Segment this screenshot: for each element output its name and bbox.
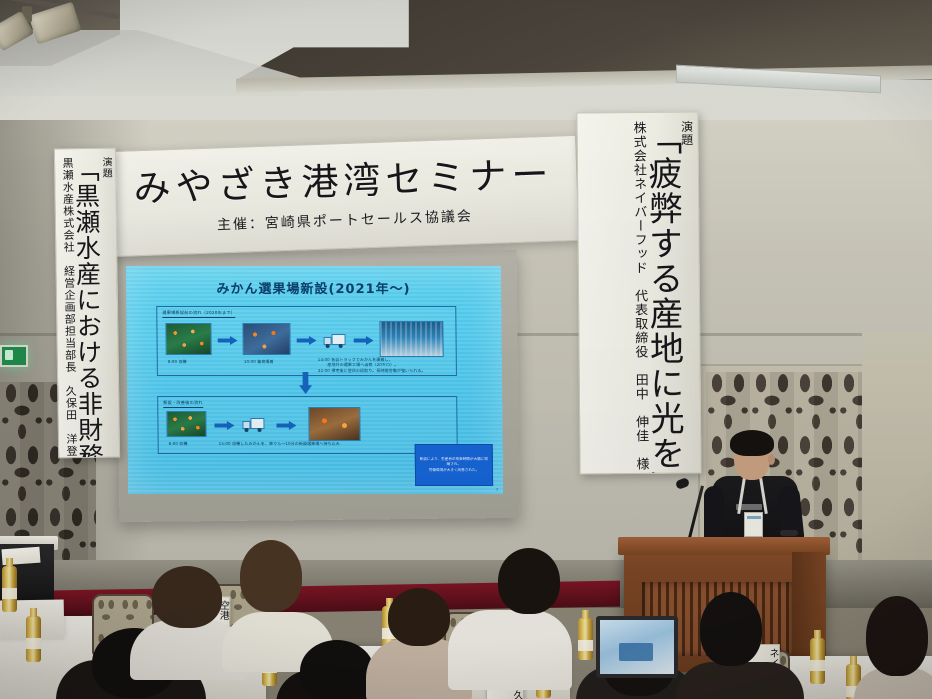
slide-arrow-right bbox=[354, 336, 374, 345]
slide-truck-icon bbox=[324, 333, 346, 347]
slide-caption: 8:00 収穫 bbox=[169, 441, 188, 446]
slide-flow-box-bottom: 新設・改善後の流れ 8:00 収穫 15:00 収穫したみかんを、車でら～10分… bbox=[157, 396, 458, 454]
slide-caption: 15:00 収穫したみかんを、車でら～10分の新設選果場へ持ち込み bbox=[219, 441, 399, 446]
slide-flow-label-bottom: 新設・改善後の流れ bbox=[163, 400, 203, 408]
audience-person-head bbox=[498, 548, 560, 614]
audience-person bbox=[448, 610, 572, 690]
slide-caption: 10:00 集荷場着 bbox=[244, 359, 274, 364]
audience-person bbox=[676, 662, 804, 699]
operator-laptop[interactable] bbox=[596, 616, 678, 678]
exit-sign bbox=[0, 345, 28, 367]
photo-scene: みかん選果場新設(2021年～) 選果場新設前の流れ（2020年まで） 8:00… bbox=[0, 0, 932, 699]
laptop-screen[interactable] bbox=[600, 620, 674, 674]
tea-bottle[interactable] bbox=[2, 566, 17, 612]
audience-person-head bbox=[152, 566, 222, 628]
slide-caption: 8:00 収穫 bbox=[168, 359, 187, 364]
main-banner-title: みやざき港湾セミナー bbox=[133, 155, 554, 207]
slide-callout-box: 新設により、生産者の拘束時間が大幅に短縮され、 労働環境が大きく改善された。 bbox=[415, 444, 493, 486]
slide-caption: 14:00 各自トラックでみかんを運搬し、 産地外の選果工場へ出荷（20キロ）。… bbox=[318, 357, 453, 373]
name-badge bbox=[744, 512, 763, 537]
wristwatch bbox=[780, 530, 798, 536]
audience-person-head bbox=[300, 640, 374, 699]
slide-truck-icon bbox=[242, 417, 264, 431]
wall-flat-right bbox=[862, 332, 932, 584]
audience-person-head bbox=[866, 596, 928, 676]
left-banner-title: 「黒瀬水産における非財務面の取組」 bbox=[73, 157, 102, 449]
speaker-hair bbox=[730, 430, 774, 456]
slide-title: みかん選果場新設(2021年～) bbox=[126, 278, 501, 297]
slide-photo-harvest bbox=[166, 411, 206, 437]
speaker-ear bbox=[768, 454, 775, 465]
audience-person-head bbox=[388, 588, 450, 646]
audience-person-head bbox=[240, 540, 302, 612]
slide-arrow-right bbox=[214, 421, 234, 430]
slide-photo-collection bbox=[242, 323, 290, 355]
tea-bottle[interactable] bbox=[810, 638, 825, 684]
slide-photo-harvest bbox=[165, 323, 211, 355]
slide-arrow-right bbox=[276, 421, 296, 430]
tea-bottle[interactable] bbox=[578, 618, 593, 660]
main-banner-subtitle: 主催：宮崎県ポートセールス協議会 bbox=[217, 205, 474, 234]
audience-person-head bbox=[700, 592, 762, 666]
slide-photo-new-plant bbox=[308, 407, 360, 441]
right-hanging-banner: 演題 「疲弊する産地に光を」 株式会社ネイバーフッド 代表取締役 田中 伸佳 様 bbox=[576, 111, 701, 474]
slide-page-number: 7 bbox=[496, 487, 498, 492]
slide-photo-sorting-plant bbox=[379, 321, 443, 357]
tea-bottle[interactable] bbox=[26, 616, 41, 662]
slide-flow-label-top: 選果場新設前の流れ（2020年まで） bbox=[162, 310, 235, 318]
right-banner-title: 「疲弊する産地に光を」 bbox=[644, 121, 681, 465]
slide-arrow-right bbox=[218, 336, 238, 345]
left-hanging-banner: 演題 「黒瀬水産における非財務面の取組」 黒瀬水産株式会社 経営企画部担当部長 … bbox=[54, 148, 120, 459]
right-banner-lead: 演題 bbox=[680, 121, 695, 465]
slide-callout-text: 新設により、生産者の拘束時間が大幅に短縮され、 労働環境が大きく改善された。 bbox=[419, 457, 489, 473]
main-banner: みやざき港湾セミナー 主催：宮崎県ポートセールス協議会 bbox=[108, 135, 579, 257]
slide-arrow-right bbox=[297, 336, 317, 345]
presentation-slide: みかん選果場新設(2021年～) 選果場新設前の流れ（2020年まで） 8:00… bbox=[126, 266, 503, 494]
slide-flow-box-top: 選果場新設前の流れ（2020年まで） 8:00 収穫 10:00 集荷場着 14… bbox=[156, 306, 457, 376]
